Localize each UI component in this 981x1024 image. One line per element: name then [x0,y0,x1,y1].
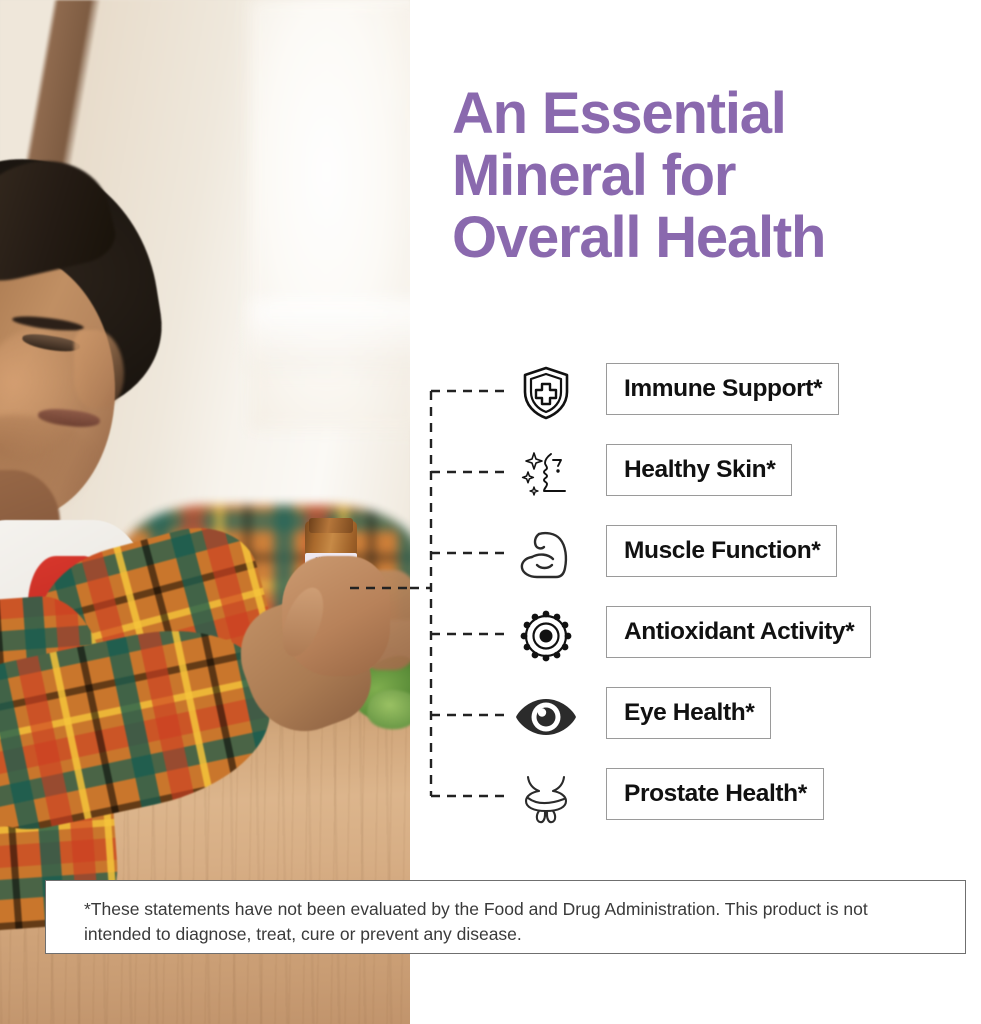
disclaimer-box: *These statements have not been evaluate… [45,880,966,954]
lifestyle-photo: GARDEN OF LIFE PLANT ZINC WHOLE FOOD SUP… [0,0,410,1024]
benefit-label: Antioxidant Activity* [624,620,854,645]
prostate-icon [514,770,578,826]
eye-icon [514,689,578,745]
benefit-row-eye-health[interactable]: Eye Health* [410,689,981,770]
benefit-row-healthy-skin[interactable]: Healthy Skin* [410,446,981,527]
benefit-label: Eye Health* [624,701,754,726]
benefit-box-immune-support[interactable]: Immune Support* [606,363,839,415]
headline-line-1: An Essential [452,83,981,145]
benefit-row-prostate-health[interactable]: Prostate Health* [410,770,981,851]
benefit-box-antioxidant-activity[interactable]: Antioxidant Activity* [606,606,871,658]
benefit-box-prostate-health[interactable]: Prostate Health* [606,768,824,820]
headline-line-2: Mineral for [452,145,981,207]
shield-plus-icon [514,365,578,421]
benefit-label: Prostate Health* [624,782,807,807]
flexed-bicep-icon [514,527,578,583]
infographic-page: GARDEN OF LIFE PLANT ZINC WHOLE FOOD SUP… [0,0,981,1024]
benefit-box-muscle-function[interactable]: Muscle Function* [606,525,837,577]
content-panel: An Essential Mineral for Overall Health [410,0,981,1024]
benefit-label: Muscle Function* [624,539,820,564]
photo-window-sill [250,300,410,370]
benefit-row-antioxidant-activity[interactable]: Antioxidant Activity* [410,608,981,689]
photo-bottle-cap [309,518,353,533]
benefit-row-immune-support[interactable]: Immune Support* [410,365,981,446]
benefit-label: Healthy Skin* [624,458,775,483]
disclaimer-text: *These statements have not been evaluate… [84,897,927,948]
benefits-list: Immune Support* Healthy Skin* [410,365,981,851]
benefit-box-healthy-skin[interactable]: Healthy Skin* [606,444,792,496]
headline-line-3: Overall Health [452,207,981,269]
atom-icon [514,608,578,664]
benefit-row-muscle-function[interactable]: Muscle Function* [410,527,981,608]
benefit-label: Immune Support* [624,377,822,402]
face-sparkle-icon [514,446,578,502]
page-title: An Essential Mineral for Overall Health [452,83,981,269]
benefit-box-eye-health[interactable]: Eye Health* [606,687,771,739]
